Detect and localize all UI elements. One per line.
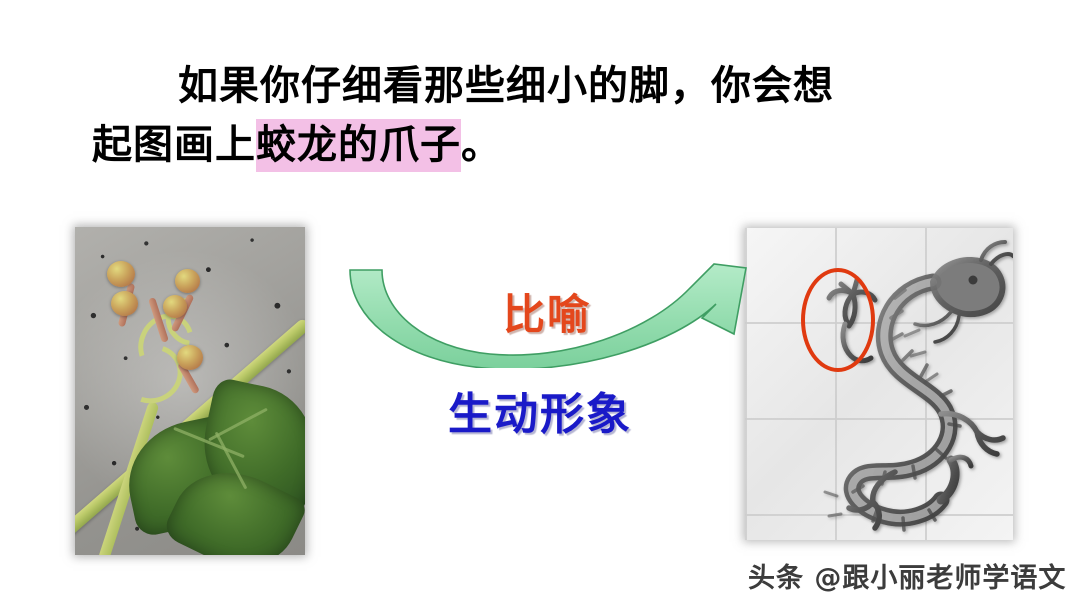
- vine-foot-pad-4: [163, 295, 187, 318]
- dragon-claw-highlight-ellipse: [801, 268, 875, 372]
- highlighted-phrase: 蛟龙的爪子: [256, 119, 461, 172]
- vine-foot-pad-2: [111, 291, 138, 316]
- sentence-line-1: 如果你仔细看那些细小的脚，你会想: [0, 56, 1080, 115]
- label-shengdong-xingxiang: 生动形象: [448, 378, 632, 442]
- sentence-line-2-prefix: 起图画上: [92, 121, 256, 168]
- sentence-block: 如果你仔细看那些细小的脚，你会想 起图画上蛟龙的爪子。: [0, 56, 1080, 174]
- vine-foot-pad-3: [175, 269, 200, 293]
- label-biyu: 比喻: [503, 281, 591, 342]
- vine-foot-photo: [75, 227, 305, 555]
- sentence-line-2: 起图画上蛟龙的爪子。: [0, 115, 1080, 174]
- slide-canvas: 如果你仔细看那些细小的脚，你会想 起图画上蛟龙的爪子。: [0, 0, 1080, 608]
- dragon-picture: [745, 228, 1013, 540]
- sentence-line-2-suffix: 。: [461, 121, 502, 168]
- chinese-dragon-illustration: [745, 228, 1013, 540]
- watermark: 头条 @跟小丽老师学语文: [748, 556, 1066, 595]
- vine-foot-pad-1: [107, 261, 135, 287]
- vine-foot-pad-5: [177, 345, 203, 370]
